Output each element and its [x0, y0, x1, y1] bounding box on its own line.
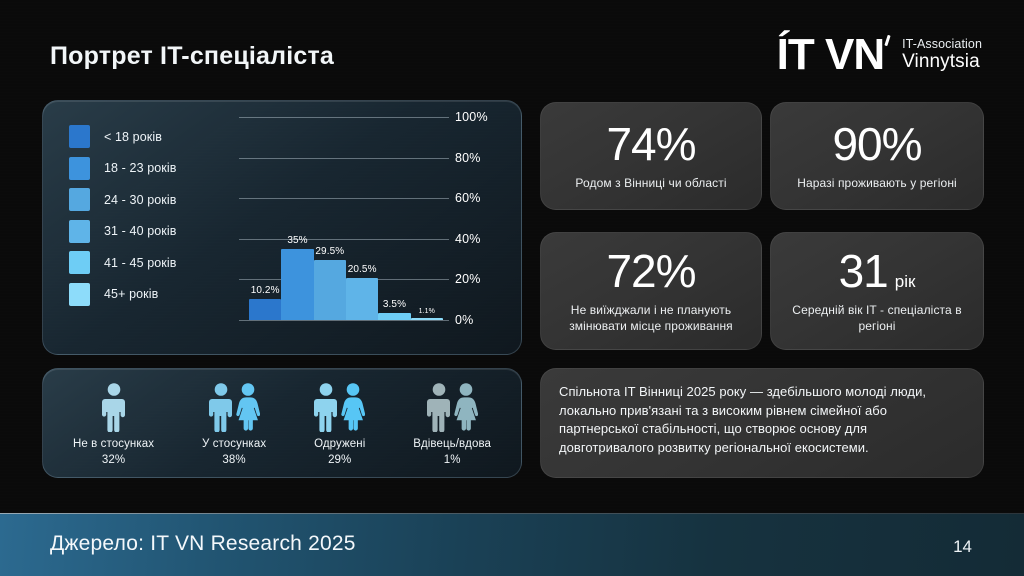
chart-plot-area: 100%80%60%40%20%0% 10.2%35%29.5%20.5%3.5… — [239, 117, 507, 342]
logo-tick-icon — [884, 35, 890, 46]
family-status-item[interactable]: Вдівець/вдова1% — [413, 380, 491, 465]
logo-association-label: IT-Association — [902, 37, 982, 51]
stat-description: Наразі проживають у регіоні — [797, 176, 957, 192]
y-axis-tick-label: 40% — [455, 232, 507, 246]
stat-card-relocation: 72% Не виїжджали і не планують змінювати… — [540, 232, 762, 350]
family-status-label: У стосунках — [202, 437, 266, 451]
stat-description: Родом з Вінниці чи області — [575, 176, 726, 192]
y-axis-tick-label: 20% — [455, 272, 507, 286]
bar[interactable] — [314, 260, 346, 320]
female-figure-icon — [341, 382, 365, 432]
legend-swatch-icon — [69, 251, 90, 274]
footer-divider — [0, 513, 1024, 514]
family-status-percent: 32% — [102, 454, 125, 466]
bar-value-label: 10.2% — [251, 285, 280, 296]
legend-item[interactable]: 24 - 30 років — [69, 184, 239, 216]
stat-number: 31 — [839, 248, 888, 294]
chart-legend: < 18 років18 - 23 років24 - 30 років31 -… — [69, 121, 239, 310]
stat-value: 31 рік — [839, 248, 916, 294]
page-title: Портрет IT-спеціаліста — [50, 42, 334, 71]
legend-item-label: 31 - 40 років — [104, 224, 176, 238]
logo-city-label: Vinnytsia — [902, 51, 982, 72]
family-status-item[interactable]: Не в стосунках32% — [73, 380, 154, 465]
family-status-row: Не в стосунках32%У стосунках38%Одружені2… — [43, 369, 521, 477]
legend-item[interactable]: < 18 років — [69, 121, 239, 153]
legend-swatch-icon — [69, 157, 90, 180]
stat-unit: рік — [895, 273, 916, 290]
stat-value: 90% — [832, 121, 921, 167]
stat-description: Не виїжджали і не планують змінювати міс… — [555, 303, 747, 334]
logo-subtitle: IT-Association Vinnytsia — [902, 33, 982, 72]
summary-text: Спільнота IT Вінниці 2025 року — здебіль… — [541, 369, 983, 471]
bar-value-label: 1.1% — [419, 308, 435, 315]
family-status-label: Вдівець/вдова — [413, 437, 491, 451]
bar-column[interactable]: 35% — [281, 117, 313, 320]
bar-column[interactable]: 20.5% — [346, 117, 378, 320]
figure-group — [102, 380, 126, 432]
family-status-label: Одружені — [314, 437, 365, 451]
stat-number: 72% — [606, 248, 695, 294]
chart-bars: 10.2%35%29.5%20.5%3.5%1.1% — [249, 117, 443, 320]
summary-card: Спільнота IT Вінниці 2025 року — здебіль… — [540, 368, 984, 478]
male-figure-icon — [209, 382, 233, 432]
bar-value-label: 29.5% — [315, 246, 344, 257]
logo-mark: ÍT VN — [777, 33, 888, 77]
bar-value-label: 3.5% — [383, 299, 406, 310]
y-axis-tick-label: 80% — [455, 151, 507, 165]
male-figure-icon — [427, 382, 451, 432]
stat-number: 90% — [832, 121, 921, 167]
age-distribution-chart-card: < 18 років18 - 23 років24 - 30 років31 -… — [42, 100, 522, 355]
bar[interactable] — [249, 299, 281, 320]
brand-logo: ÍT VN IT-Association Vinnytsia — [777, 33, 982, 77]
legend-item-label: 45+ років — [104, 287, 158, 301]
stat-description: Середній вік IT - спеціаліста в регіоні — [785, 303, 969, 334]
stat-value: 74% — [606, 121, 695, 167]
male-figure-icon — [102, 382, 126, 432]
legend-swatch-icon — [69, 188, 90, 211]
family-status-item[interactable]: Одружені29% — [314, 380, 365, 465]
legend-item[interactable]: 31 - 40 років — [69, 216, 239, 248]
legend-item-label: 18 - 23 років — [104, 161, 176, 175]
family-status-label: Не в стосунках — [73, 437, 154, 451]
family-status-percent: 38% — [222, 454, 245, 466]
legend-item[interactable]: 41 - 45 років — [69, 247, 239, 279]
gridline — [239, 320, 449, 321]
bar[interactable] — [378, 313, 410, 320]
family-status-percent: 1% — [444, 454, 461, 466]
bar-value-label: 20.5% — [348, 264, 377, 275]
bar-column[interactable]: 3.5% — [378, 117, 410, 320]
y-axis-tick-label: 100% — [455, 110, 507, 124]
legend-swatch-icon — [69, 220, 90, 243]
stat-card-origin: 74% Родом з Вінниці чи області — [540, 102, 762, 210]
female-figure-icon — [236, 382, 260, 432]
y-axis-tick-label: 60% — [455, 191, 507, 205]
female-figure-icon — [454, 382, 478, 432]
logo-mark-text: ÍT VN — [777, 30, 884, 79]
bar-column[interactable]: 29.5% — [314, 117, 346, 320]
figure-group — [314, 380, 365, 432]
slide: Портрет IT-спеціаліста ÍT VN IT-Associat… — [0, 0, 1024, 576]
y-axis-tick-label: 0% — [455, 313, 507, 327]
bar[interactable] — [346, 278, 378, 320]
stat-card-average-age: 31 рік Середній вік IT - спеціаліста в р… — [770, 232, 984, 350]
bar[interactable] — [411, 318, 443, 320]
figure-group — [427, 380, 478, 432]
bar-column[interactable]: 1.1% — [411, 117, 443, 320]
page-number: 14 — [953, 537, 972, 557]
family-status-card: Не в стосунках32%У стосунках38%Одружені2… — [42, 368, 522, 478]
stat-value: 72% — [606, 248, 695, 294]
male-figure-icon — [314, 382, 338, 432]
legend-item[interactable]: 18 - 23 років — [69, 153, 239, 185]
legend-item-label: < 18 років — [104, 130, 162, 144]
family-status-percent: 29% — [328, 454, 351, 466]
stat-card-residence: 90% Наразі проживають у регіоні — [770, 102, 984, 210]
legend-swatch-icon — [69, 125, 90, 148]
legend-item[interactable]: 45+ років — [69, 279, 239, 311]
stat-number: 74% — [606, 121, 695, 167]
figure-group — [209, 380, 260, 432]
bar[interactable] — [281, 249, 313, 320]
legend-item-label: 24 - 30 років — [104, 193, 176, 207]
bar-column[interactable]: 10.2% — [249, 117, 281, 320]
legend-item-label: 41 - 45 років — [104, 256, 176, 270]
legend-swatch-icon — [69, 283, 90, 306]
family-status-item[interactable]: У стосунках38% — [202, 380, 266, 465]
bar-value-label: 35% — [287, 235, 307, 246]
footer-source-label: Джерело: IT VN Research 2025 — [50, 532, 356, 556]
